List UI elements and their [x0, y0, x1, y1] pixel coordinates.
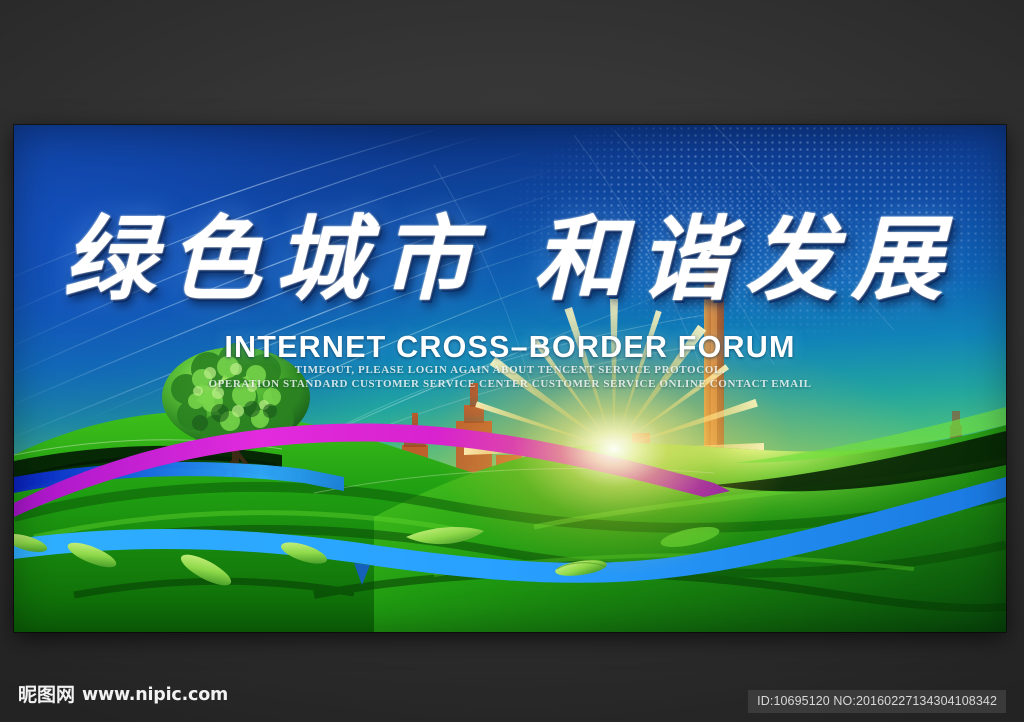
- floating-leaf-icon: [406, 527, 484, 544]
- nipic-logo-url: www.nipic.com: [82, 687, 228, 705]
- poster-artwork: 绿色城市 和谐发展 INTERNET CROSS–BORDER FORUM TI…: [14, 125, 1006, 632]
- asset-id-badge: ID:10695120 NO:20160227134304108342: [748, 690, 1006, 713]
- floating-leaf-icon: [177, 549, 235, 591]
- ribbon-overlay: [14, 125, 1006, 632]
- site-watermark: 昵图网 www.nipic.com: [18, 686, 228, 705]
- floating-leaf-icon: [659, 523, 721, 551]
- page-background: 绿色城市 和谐发展 INTERNET CROSS–BORDER FORUM TI…: [0, 0, 1024, 722]
- nipic-logo-cn: 昵图网: [18, 686, 75, 705]
